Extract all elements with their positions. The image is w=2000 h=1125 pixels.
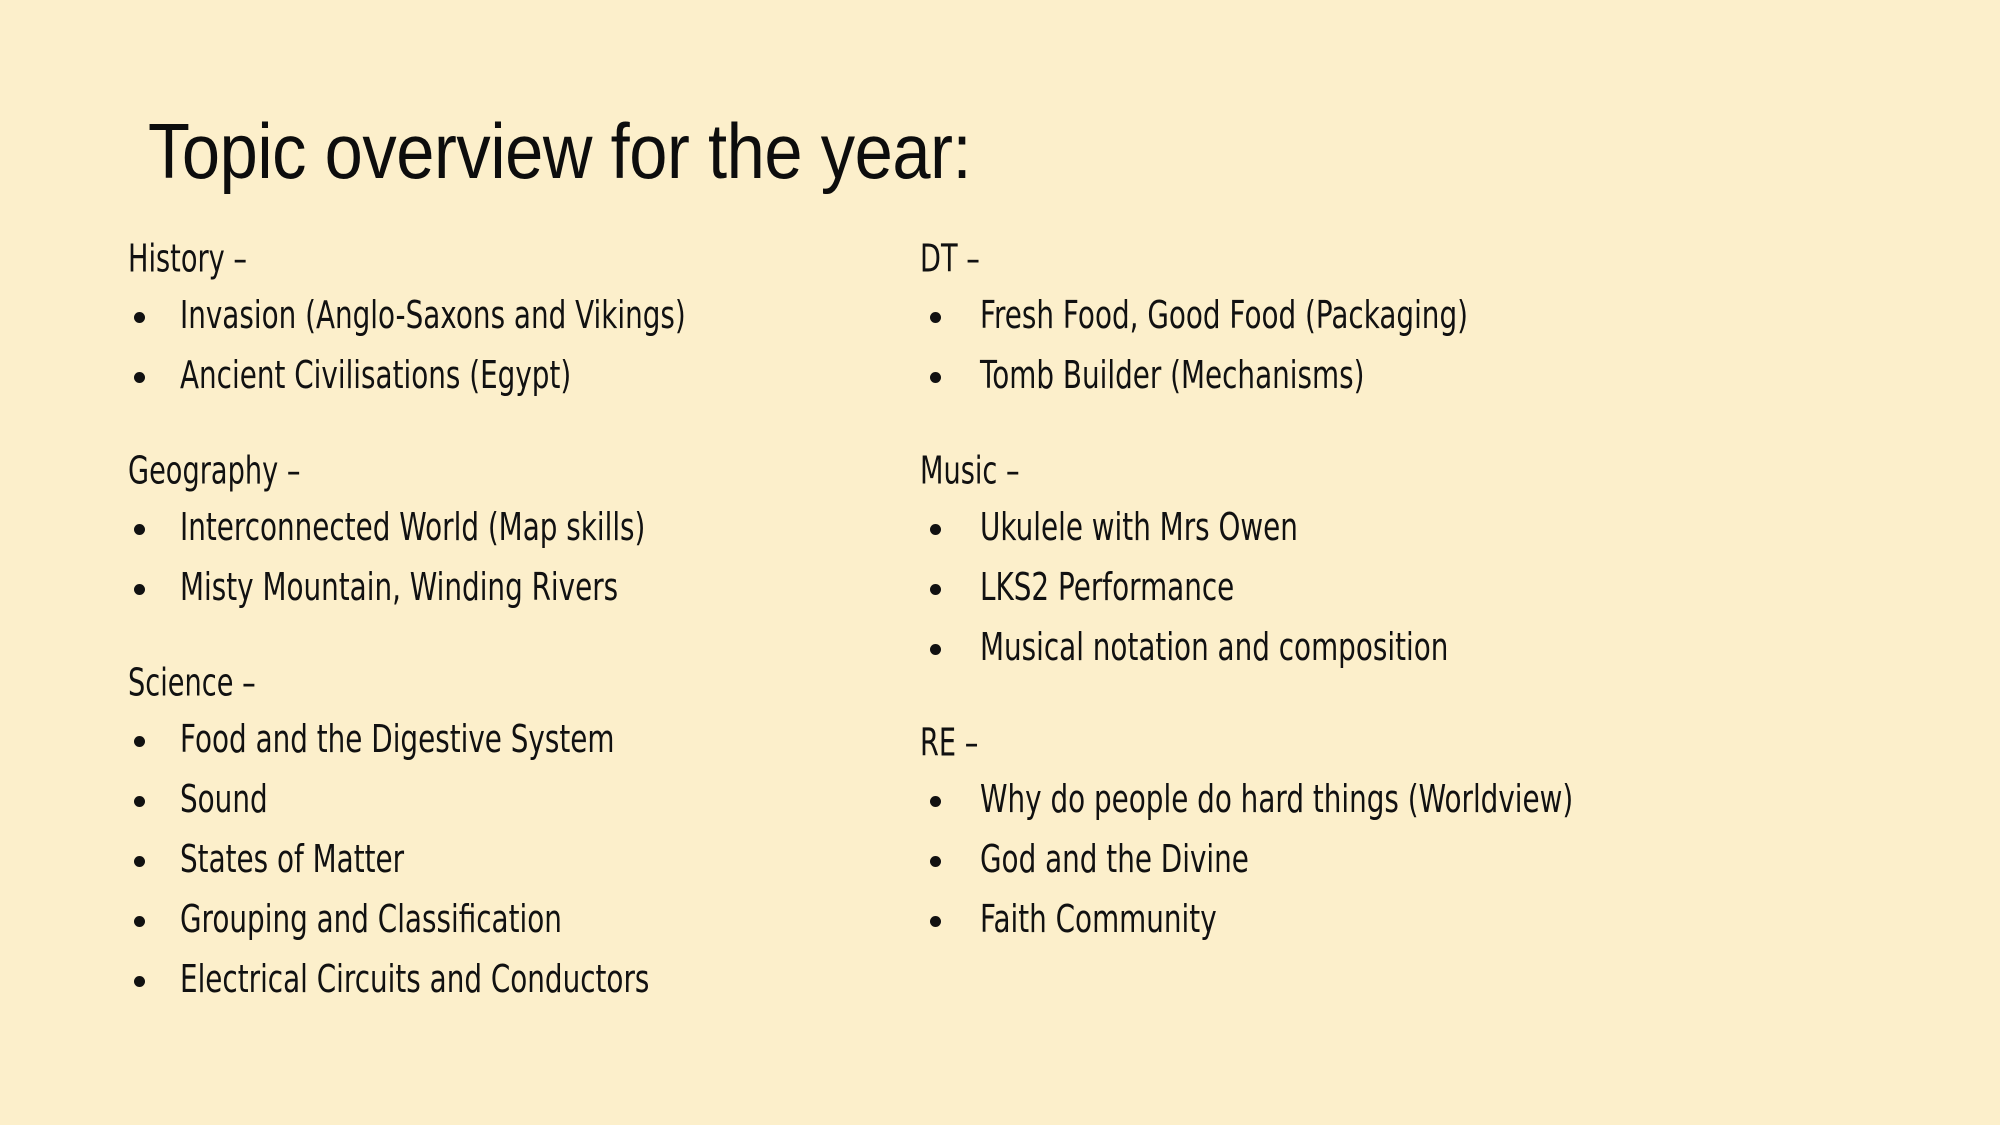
list-item: Tomb Builder (Mechanisms) xyxy=(920,346,1930,406)
bullet-dot-icon xyxy=(930,524,941,535)
list-item: Electrical Circuits and Conductors xyxy=(128,950,888,1010)
topic-list: Why do people do hard things (Worldview)… xyxy=(920,770,1930,950)
subject-heading: DT – xyxy=(920,233,1728,285)
bullet-dot-icon xyxy=(134,916,145,927)
topic-list: Interconnected World (Map skills)Misty M… xyxy=(128,498,888,618)
list-item-label: Food and the Digestive System xyxy=(180,707,615,773)
list-item: Food and the Digestive System xyxy=(128,710,888,770)
subject-section: Science –Food and the Digestive SystemSo… xyxy=(128,660,888,1010)
list-item: Misty Mountain, Winding Rivers xyxy=(128,558,888,618)
subject-heading: Music – xyxy=(920,445,1728,497)
topic-list: Invasion (Anglo-Saxons and Vikings)Ancie… xyxy=(128,286,888,406)
bullet-dot-icon xyxy=(134,976,145,987)
bullet-dot-icon xyxy=(930,856,941,867)
list-item-label: Sound xyxy=(180,767,268,833)
bullet-dot-icon xyxy=(930,584,941,595)
list-item: Why do people do hard things (Worldview) xyxy=(920,770,1930,830)
list-item-label: Why do people do hard things (Worldview) xyxy=(980,767,1573,833)
subject-heading: History – xyxy=(128,233,736,285)
bullet-dot-icon xyxy=(930,916,941,927)
left-content-column: History –Invasion (Anglo-Saxons and Viki… xyxy=(128,236,888,1010)
list-item: Interconnected World (Map skills) xyxy=(128,498,888,558)
bullet-dot-icon xyxy=(134,524,145,535)
topic-list: Food and the Digestive SystemSoundStates… xyxy=(128,710,888,1010)
list-item-label: Tomb Builder (Mechanisms) xyxy=(980,343,1364,409)
subject-section: DT –Fresh Food, Good Food (Packaging)Tom… xyxy=(920,236,1930,406)
topic-list: Fresh Food, Good Food (Packaging)Tomb Bu… xyxy=(920,286,1930,406)
list-item: LKS2 Performance xyxy=(920,558,1930,618)
list-item-label: Fresh Food, Good Food (Packaging) xyxy=(980,283,1468,349)
list-item-label: Invasion (Anglo-Saxons and Vikings) xyxy=(180,283,686,349)
list-item-label: Misty Mountain, Winding Rivers xyxy=(180,555,618,621)
list-item: Sound xyxy=(128,770,888,830)
bullet-dot-icon xyxy=(134,856,145,867)
subject-section: RE –Why do people do hard things (Worldv… xyxy=(920,720,1930,950)
list-item: God and the Divine xyxy=(920,830,1930,890)
list-item: States of Matter xyxy=(128,830,888,890)
list-item: Faith Community xyxy=(920,890,1930,950)
subject-section: Geography –Interconnected World (Map ski… xyxy=(128,448,888,618)
list-item: Musical notation and composition xyxy=(920,618,1930,678)
list-item-label: States of Matter xyxy=(180,827,404,893)
subject-section: Music –Ukulele with Mrs OwenLKS2 Perform… xyxy=(920,448,1930,678)
list-item: Ukulele with Mrs Owen xyxy=(920,498,1930,558)
list-item-label: Ancient Civilisations (Egypt) xyxy=(180,343,571,409)
list-item-label: Electrical Circuits and Conductors xyxy=(180,947,649,1013)
list-item-label: LKS2 Performance xyxy=(980,555,1234,621)
subject-section: History –Invasion (Anglo-Saxons and Viki… xyxy=(128,236,888,406)
right-content-column: DT –Fresh Food, Good Food (Packaging)Tom… xyxy=(920,236,1930,950)
bullet-dot-icon xyxy=(930,796,941,807)
list-item-label: Faith Community xyxy=(980,887,1217,953)
bullet-dot-icon xyxy=(134,796,145,807)
list-item: Ancient Civilisations (Egypt) xyxy=(128,346,888,406)
list-item-label: Grouping and Classification xyxy=(180,887,562,953)
bullet-dot-icon xyxy=(930,372,941,383)
subject-heading: Geography – xyxy=(128,445,736,497)
bullet-dot-icon xyxy=(930,312,941,323)
bullet-dot-icon xyxy=(134,312,145,323)
list-item-label: Musical notation and composition xyxy=(980,615,1448,681)
list-item-label: God and the Divine xyxy=(980,827,1249,893)
bullet-dot-icon xyxy=(134,372,145,383)
page-title: Topic overview for the year: xyxy=(148,108,971,194)
topic-list: Ukulele with Mrs OwenLKS2 PerformanceMus… xyxy=(920,498,1930,678)
list-item: Fresh Food, Good Food (Packaging) xyxy=(920,286,1930,346)
subject-heading: RE – xyxy=(920,717,1728,769)
subject-heading: Science – xyxy=(128,657,736,709)
bullet-dot-icon xyxy=(134,584,145,595)
presentation-slide: Topic overview for the year: History –In… xyxy=(0,0,2000,1125)
list-item: Grouping and Classification xyxy=(128,890,888,950)
list-item: Invasion (Anglo-Saxons and Vikings) xyxy=(128,286,888,346)
bullet-dot-icon xyxy=(134,736,145,747)
list-item-label: Ukulele with Mrs Owen xyxy=(980,495,1298,561)
list-item-label: Interconnected World (Map skills) xyxy=(180,495,645,561)
bullet-dot-icon xyxy=(930,644,941,655)
